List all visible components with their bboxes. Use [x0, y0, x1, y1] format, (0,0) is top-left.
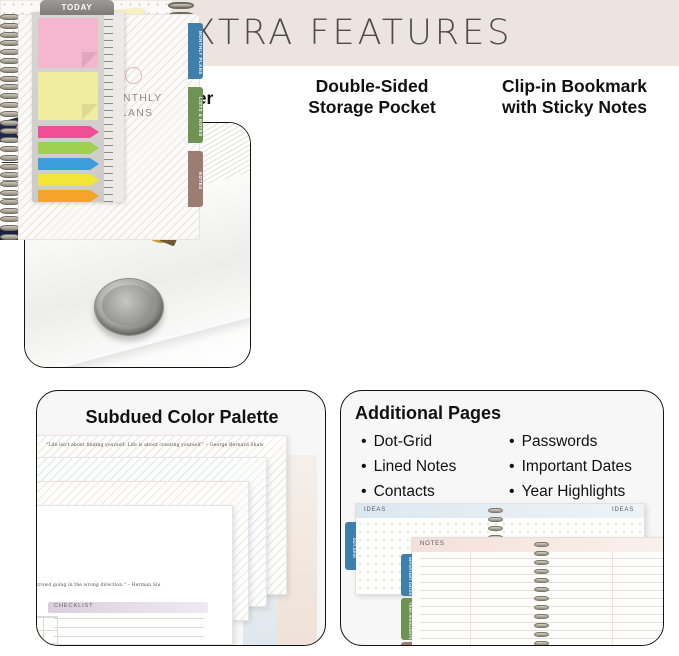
spiral-coil [0, 146, 20, 152]
bullet-column-1: Dot-Grid Lined Notes Contacts [361, 429, 456, 504]
bookmark-strip [32, 12, 124, 202]
spiral-coil [0, 137, 20, 143]
sticky-flag-orange [38, 190, 90, 202]
side-tab-lists-notes: LISTS & NOTES [188, 87, 203, 143]
sticky-flag-yellow [38, 174, 90, 186]
ideas-label-left: IDEAS [364, 507, 386, 513]
spiral-coil [0, 111, 20, 117]
additional-pages-photo: IDEAS IDEAS DOT-GRID NOTES [341, 503, 664, 646]
spiral-coil [0, 225, 20, 231]
notes-label: NOTES [420, 541, 445, 547]
checklist-label: CHECKLIST [54, 603, 94, 609]
spiral-coil [0, 164, 20, 170]
spiral-coil [534, 578, 549, 583]
spiral-coil [534, 542, 549, 547]
additional-pages-box: Additional Pages Dot-Grid Lined Notes Co… [340, 390, 664, 646]
sticky-flag-pink [38, 126, 90, 138]
column-divider [612, 552, 613, 646]
bullet-column-2: Passwords Important Dates Year Highlight… [509, 429, 632, 504]
spiral-coil [168, 2, 194, 9]
ruled-line [420, 574, 664, 575]
spiral-coil [488, 508, 503, 513]
spiral-coil [0, 23, 20, 29]
side-tab-notes: NOTES [188, 151, 203, 207]
list-item: Dot-Grid [361, 429, 456, 454]
spiral-coil [0, 190, 20, 196]
spiral-coil [0, 102, 20, 108]
palette-page-stack: "Life isn't about finding yourself. Life… [37, 435, 326, 646]
spiral-coil [0, 234, 20, 240]
spiral-coil [0, 208, 20, 214]
list-item: Passwords [509, 429, 632, 454]
spiral-coil [488, 517, 503, 522]
notes-lined-page: NOTES IMPORTANT DATES [411, 537, 664, 646]
additional-pages-title: Additional Pages [355, 403, 501, 424]
circle-icon [125, 67, 142, 84]
bookmark-title-line2: with Sticky Notes [472, 97, 677, 118]
mini-calendar-grid [36, 616, 58, 645]
pocket-title-line1: Double-Sided [272, 76, 472, 97]
side-tab-monthly-plans: MONTHLY PLANS [188, 23, 203, 79]
today-tab-label: TODAY [40, 0, 114, 15]
quote-text: "Life isn't about finding yourself. Life… [46, 443, 264, 448]
list-item: Important Dates [509, 454, 632, 479]
list-item: Year Highlights [509, 479, 632, 504]
spiral-coil [534, 569, 549, 574]
sticky-note-yellow [38, 72, 98, 120]
spiral-coil [0, 120, 20, 126]
spiral-coil [0, 14, 20, 20]
sticky-note-pink [38, 18, 98, 68]
checklist-row [54, 636, 204, 637]
spiral-coil [534, 551, 549, 556]
spiral-coil [534, 614, 549, 619]
side-tab-year-highlights: YEAR HIGHLIGHTS [401, 598, 412, 640]
subdued-color-palette-title: Subdued Color Palette [37, 407, 326, 428]
ruled-line [420, 566, 664, 567]
double-sided-storage-pocket-title: Double-Sided Storage Pocket [272, 76, 472, 117]
pocket-title-line2: Storage Pocket [272, 97, 472, 118]
spiral-coil [0, 93, 20, 99]
weekly-spread-page: "Go on with a crowd going in the wrong d… [36, 505, 233, 645]
ideas-label-right: IDEAS [612, 507, 634, 513]
ruled-line [420, 630, 664, 631]
spiral-coil [0, 216, 20, 222]
checklist-rows [54, 618, 204, 645]
spiral-coil [534, 623, 549, 628]
spiral-coil [534, 596, 549, 601]
ruled-line [420, 638, 664, 639]
spiral-coil [0, 76, 20, 82]
subdued-color-palette-box: Subdued Color Palette "Life isn't about … [36, 390, 326, 646]
extra-features-infographic: EXTRA FEATURES Sturdy Hard Cover Double-… [0, 0, 679, 656]
sticky-flag-green [38, 142, 90, 154]
side-tab-important-dates: IMPORTANT DATES [401, 554, 412, 596]
column-divider [470, 552, 471, 646]
spiral-coil [534, 587, 549, 592]
spiral-coil [0, 40, 20, 46]
checklist-row [54, 627, 204, 628]
bookmark-title-line1: Clip-in Bookmark [472, 76, 677, 97]
clip-in-bookmark-title: Clip-in Bookmark with Sticky Notes [472, 76, 677, 117]
ruled-line [420, 558, 664, 559]
list-item: Lined Notes [361, 454, 456, 479]
spiral-coil [0, 84, 20, 90]
spiral-coil [488, 526, 503, 531]
nickel-coin-scale-reference [94, 278, 164, 336]
ruler-icon [104, 12, 124, 202]
spiral-coil [0, 58, 20, 64]
spiral-coil [0, 155, 20, 161]
spiral-coil [534, 605, 549, 610]
spiral-coil [0, 32, 20, 38]
side-tab-dot-grid: DOT-GRID [345, 522, 356, 570]
spiral-coil [534, 560, 549, 565]
list-item: Contacts [361, 479, 456, 504]
sticky-flag-blue [38, 158, 90, 170]
spiral-coil [0, 49, 20, 55]
spiral-coil [534, 641, 549, 646]
side-tab-notes: NOTES [401, 642, 412, 646]
spiral-coil [534, 632, 549, 637]
spiral-coil [0, 199, 20, 205]
spiral-coil [0, 67, 20, 73]
spiral-coil [0, 128, 20, 134]
spiral-coil [0, 172, 20, 178]
spiral-coil [0, 181, 20, 187]
quote-text: "Go on with a crowd going in the wrong d… [36, 583, 161, 588]
checklist-row [54, 618, 204, 619]
